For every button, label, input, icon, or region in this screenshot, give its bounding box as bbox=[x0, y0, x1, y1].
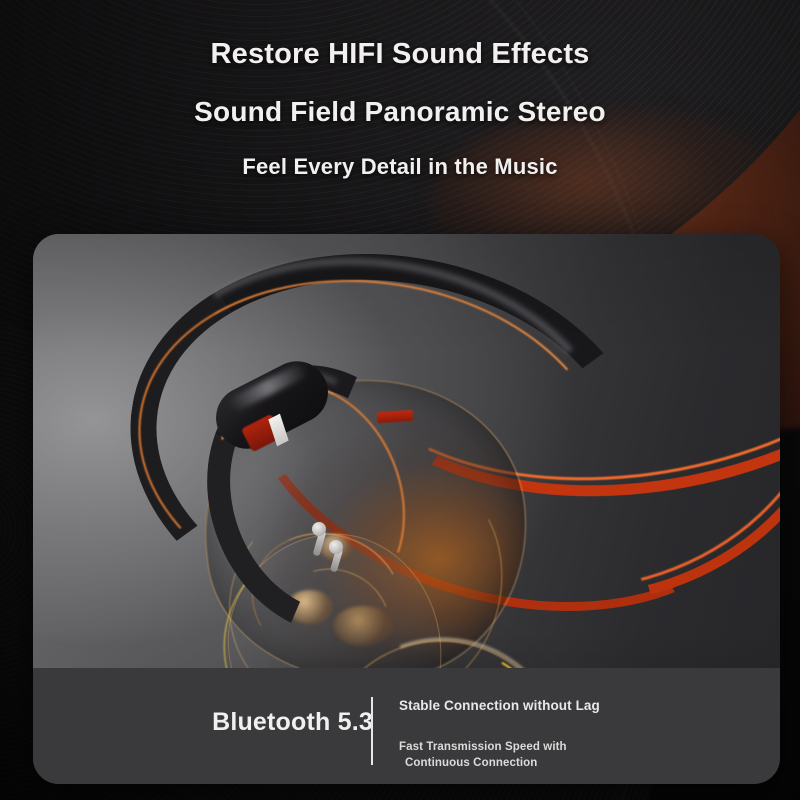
vertical-divider bbox=[371, 697, 373, 765]
feature-stable-connection: Stable Connection without Lag bbox=[399, 698, 600, 713]
feature-fast-transmission-line2: Continuous Connection bbox=[399, 756, 567, 772]
headline-tertiary: Feel Every Detail in the Music bbox=[0, 156, 800, 178]
headline-primary: Restore HIFI Sound Effects bbox=[0, 40, 800, 69]
headline-secondary: Sound Field Panoramic Stereo bbox=[0, 98, 800, 126]
headline-group: Restore HIFI Sound Effects Sound Field P… bbox=[0, 0, 800, 178]
product-card: Bluetooth 5.3 Stable Connection without … bbox=[33, 234, 780, 784]
promo-banner: Restore HIFI Sound Effects Sound Field P… bbox=[0, 0, 800, 800]
bluetooth-version-label: Bluetooth 5.3 bbox=[33, 708, 373, 737]
feature-text-group: Stable Connection without Lag Fast Trans… bbox=[399, 668, 769, 784]
feature-fast-transmission-line1: Fast Transmission Speed with bbox=[399, 741, 567, 753]
feature-fast-transmission: Fast Transmission Speed with Continuous … bbox=[399, 740, 567, 771]
spec-info-bar: Bluetooth 5.3 Stable Connection without … bbox=[33, 668, 780, 784]
